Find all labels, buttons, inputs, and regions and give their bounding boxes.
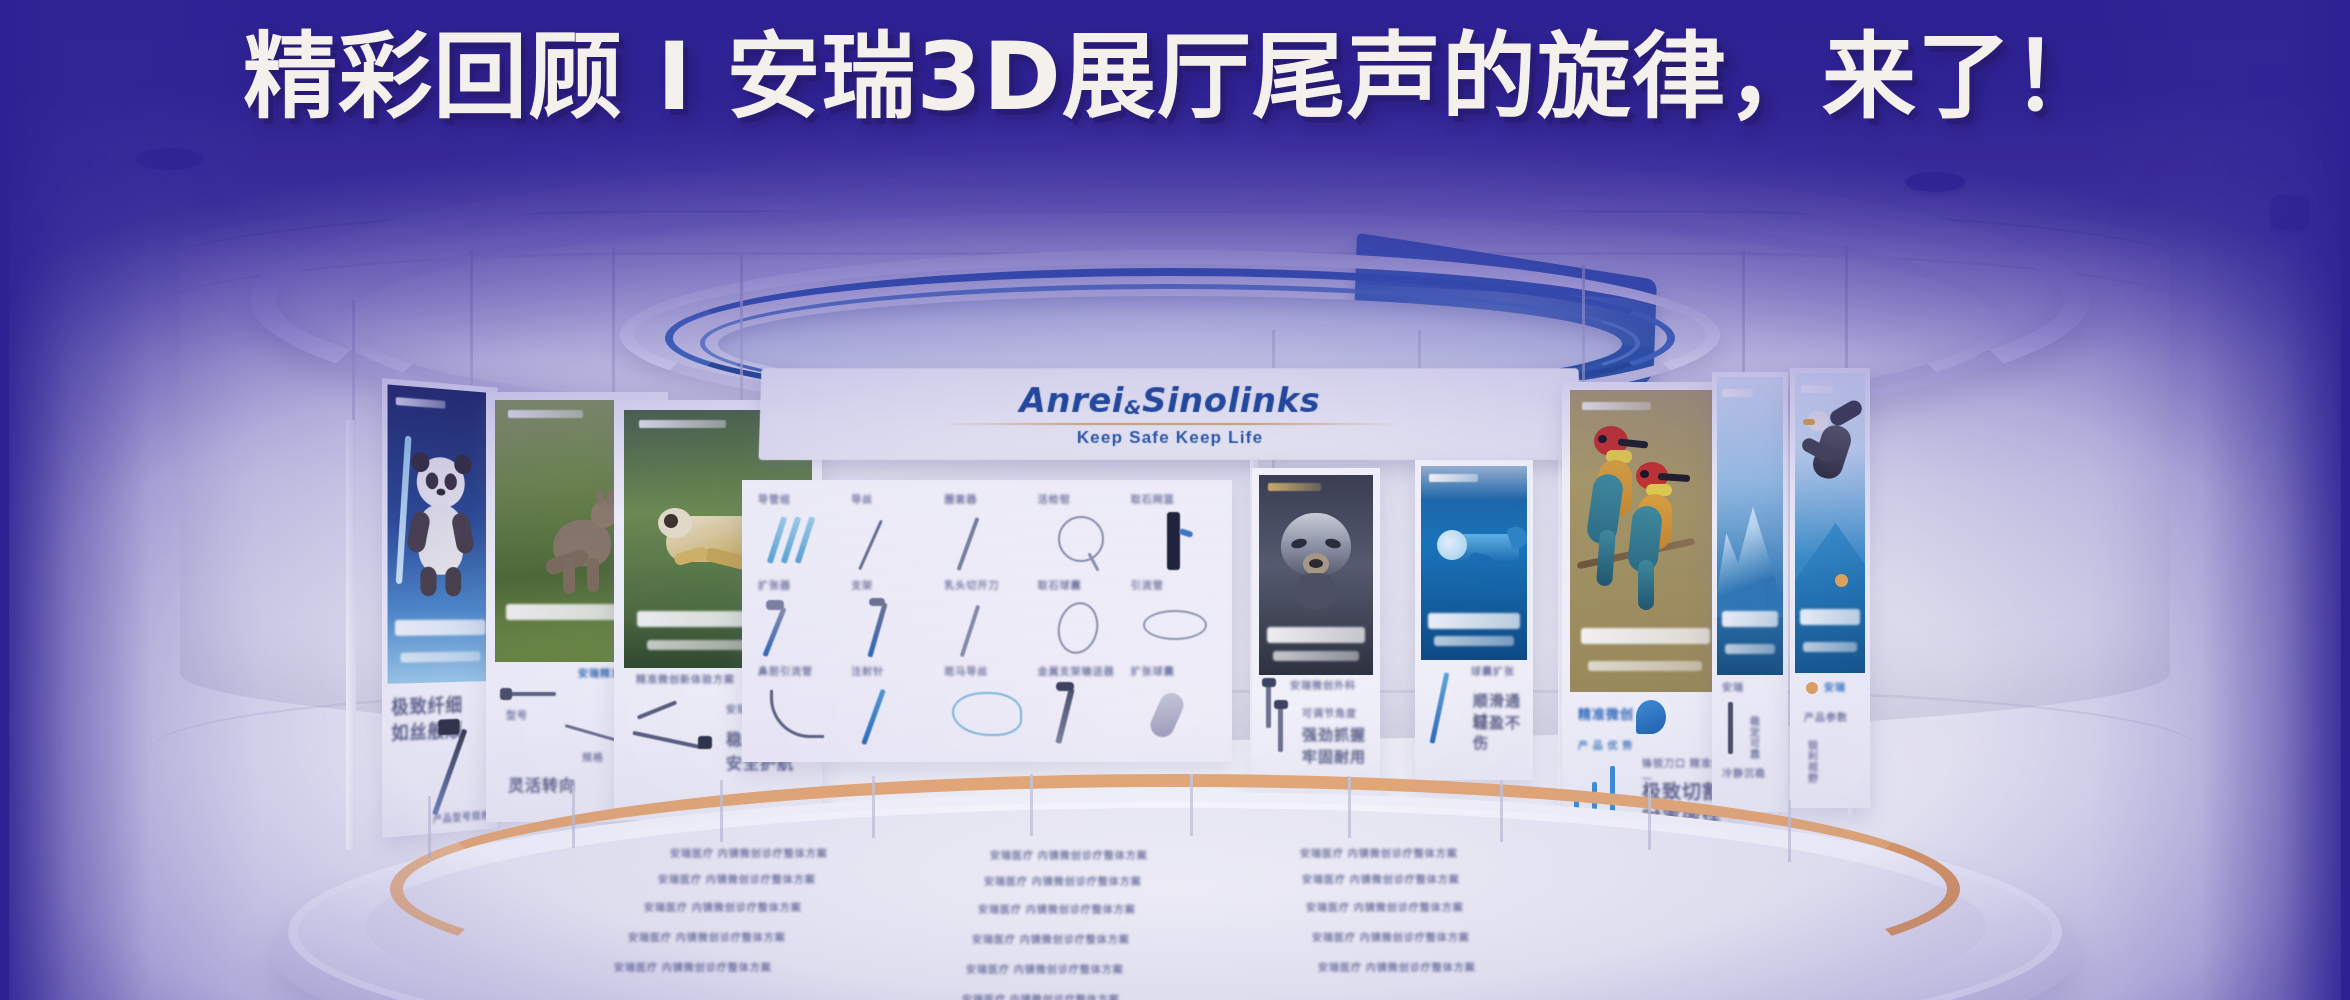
poster-subtitle-bar: [1434, 636, 1515, 646]
bee-eater-bird: [1626, 462, 1700, 612]
railing-post: [1030, 774, 1033, 836]
ceiling-spotlight: [135, 148, 203, 170]
product-label: 活检钳: [1038, 494, 1071, 508]
product-cell: 引流管: [1129, 580, 1218, 662]
railing-post: [1500, 780, 1503, 842]
railing-post: [1788, 800, 1791, 862]
poster-title-bar: [1267, 627, 1365, 643]
floor-text-line: 安瑞医疗 内镜微创诊疗整体方案: [962, 994, 1192, 1000]
panel-caption-secondary: 牢固耐用: [1302, 748, 1366, 768]
floor-text-line: 安瑞医疗 内镜微创诊疗整体方案: [966, 964, 1196, 978]
poster-subtitle-bar: [1273, 651, 1360, 661]
product-cell: 斑马导丝: [942, 666, 1031, 748]
railing-post: [720, 780, 723, 842]
product-label: 扩张器: [758, 580, 791, 594]
product-label: 取石网篮: [1131, 494, 1175, 508]
poster-title-bar: [1800, 609, 1860, 625]
panel-subcaption: 安瑞微创外科: [1290, 680, 1356, 694]
floor-text-line: 安瑞医疗 内镜微创诊疗整体方案: [614, 962, 844, 976]
product-label: 金属支架输送器: [1038, 666, 1115, 680]
product-cell: 乳头切开刀: [942, 580, 1031, 662]
icy-mountain: [1717, 497, 1783, 617]
whale-illustration: [1429, 524, 1521, 584]
instrument-silhouette: [637, 700, 677, 719]
product-label: 注射针: [851, 666, 884, 680]
product-basket: [1053, 598, 1103, 657]
poster-brandmark: [639, 420, 725, 428]
poster-brandmark: [1268, 483, 1320, 491]
poster-title-bar: [1722, 611, 1779, 627]
panel-footnote: 稳定可靠: [1746, 716, 1760, 760]
product-grid: 导管组 导丝 圈套器 活检钳: [756, 494, 1218, 748]
product-dilator: [762, 607, 786, 657]
poster-image-whale: [1421, 466, 1527, 660]
product-cell: 扩张器: [756, 580, 845, 662]
left-edge-border: [0, 0, 9, 1000]
instrument-tip: [438, 719, 459, 736]
floor-text-line: 安瑞医疗 内镜微创诊疗整体方案: [1312, 932, 1542, 946]
poster-subtitle-bar: [1588, 661, 1702, 671]
right-edge-border: [2341, 0, 2350, 1000]
panel-caption: 极致纤细: [391, 693, 463, 721]
railing-post: [428, 796, 431, 858]
railing-post: [1348, 776, 1351, 838]
brand-ampersand: &: [1124, 395, 1142, 419]
poster-image-panda: [388, 384, 493, 683]
instrument-silhouette: [1728, 702, 1733, 754]
product-dilator-hub: [766, 600, 784, 610]
panel-subcaption: 精准微创新体验方案: [636, 674, 735, 688]
poster-image-iceberg: [1717, 377, 1783, 675]
brand-logo-header: Anrei&Sinolinks Keep Safe Keep Life: [759, 368, 1582, 460]
product-guidewire: [858, 520, 883, 571]
product-nasobiliary: [770, 690, 824, 738]
floor-text-line: 安瑞医疗 内镜微创诊疗整体方案: [644, 902, 874, 916]
product-label: 取石球囊: [1038, 580, 1082, 594]
instrument-silhouette: [565, 724, 622, 743]
honey-badger-photo: [1275, 509, 1357, 619]
product-snare: [957, 517, 980, 571]
poster-brandmark: [508, 410, 583, 418]
panel-caption: 锐利视野: [1804, 740, 1818, 784]
poster-subtitle-bar: [401, 651, 481, 662]
product-cell: 支架: [849, 580, 938, 662]
eagle-photo: [1801, 397, 1859, 489]
poster-image-bee-eater: [1570, 390, 1720, 692]
product-cell: 鼻胆引流管: [756, 666, 845, 748]
accent-dot: [1806, 682, 1818, 694]
panda-illustration: [408, 455, 474, 604]
railing-post: [872, 776, 875, 838]
panel-footnote: 规格: [582, 752, 604, 766]
product-cell: 金属支架输送器: [1036, 666, 1125, 748]
product-sphincterotome: [960, 605, 980, 658]
instrument-silhouette: [1278, 704, 1283, 752]
panel-footnote: 可调节角度: [1302, 708, 1357, 722]
instrument-silhouette: [632, 731, 701, 749]
info-logo: [1636, 700, 1666, 734]
product-label: 乳头切开刀: [944, 580, 999, 594]
floor-text-line: 安瑞医疗 内镜微创诊疗整体方案: [978, 904, 1208, 918]
product-label: 圈套器: [944, 494, 977, 508]
panel-footnote: 产 品 优 势: [1578, 740, 1633, 754]
product-stent-hub: [869, 598, 885, 606]
product-stent-delivery: [1055, 688, 1074, 744]
railing-post: [1648, 788, 1651, 850]
page-title: 精彩回顾 I 安瑞3D展厅尾声的旋律，来了！: [0, 28, 2350, 128]
product-label: 鼻胆引流管: [758, 666, 813, 680]
product-cell: 注射针: [849, 666, 938, 748]
product-delivery-hub: [1056, 682, 1074, 691]
panel-footnote: 产品参数: [1804, 712, 1848, 726]
brand-tagline: Keep Safe Keep Life: [1077, 427, 1264, 447]
product-cell: 导管组: [756, 494, 845, 576]
brand-name-left: Anrei: [1019, 381, 1124, 421]
poster-panel-iceberg: 安瑞 稳定可靠 冷静沉稳: [1712, 372, 1788, 812]
product-label: 导管组: [758, 494, 791, 508]
floor-text-line: 安瑞医疗 内镜微创诊疗整体方案: [1306, 902, 1536, 916]
exhibition-platform: 安瑞医疗 内镜微创诊疗整体方案 安瑞医疗 内镜微创诊疗整体方案 安瑞医疗 内镜微…: [270, 782, 2080, 1000]
product-label: 导丝: [851, 494, 873, 508]
ceiling-spotlight: [1905, 172, 1965, 192]
brand-divider: [940, 422, 1400, 424]
product-drainage-tube: [1143, 610, 1207, 640]
poster-image-eagle: [1795, 373, 1865, 673]
brand-name-right: Sinolinks: [1142, 381, 1321, 421]
instrument-tip: [1274, 700, 1288, 709]
panel-subcaption: 精准微创: [1578, 706, 1634, 724]
brand-name: Anrei&Sinolinks: [1019, 381, 1320, 421]
product-label: 扩张球囊: [1131, 666, 1175, 680]
exhibition-banner: 极致纤细 如丝般顺 产品型号规格: [0, 0, 2350, 1000]
poster-panel-panda: 极致纤细 如丝般顺 产品型号规格: [382, 378, 497, 838]
exhibition-hall-scene: 极致纤细 如丝般顺 产品型号规格: [0, 0, 2350, 1000]
poster-panel-whale: 球囊扩张 顺滑通过 轻盈不伤: [1415, 460, 1533, 780]
poster-subtitle-bar: [1803, 642, 1856, 652]
floor-text-line: 安瑞医疗 内镜微创诊疗整体方案: [972, 934, 1202, 948]
ceiling-spotlight: [2270, 195, 2310, 231]
poster-title-bar: [395, 620, 485, 636]
product-cell: 导丝: [849, 494, 938, 576]
product-handle-port: [1178, 528, 1193, 538]
product-dilation-balloon: [1146, 689, 1187, 741]
poster-brandmark: [1582, 402, 1651, 410]
product-injection-needle: [861, 689, 886, 745]
floor-text-line: 安瑞医疗 内镜微创诊疗整体方案: [1318, 962, 1548, 976]
product-handle: [1167, 512, 1180, 570]
product-loop: [1058, 516, 1104, 562]
platform-railing: [380, 780, 1970, 900]
product-cell: 活检钳: [1036, 494, 1125, 576]
panel-subcaption: 安瑞: [1824, 682, 1846, 696]
panel-subcaption: 球囊扩张: [1471, 666, 1515, 680]
poster-brandmark: [1801, 385, 1833, 393]
product-zebra-guidewire: [952, 692, 1022, 736]
product-cell: 取石球囊: [1036, 580, 1125, 662]
panel-footnote: 型号: [506, 710, 528, 724]
product-display-board: 导管组 导丝 圈套器 活检钳: [742, 480, 1232, 762]
product-label: 斑马导丝: [944, 666, 988, 680]
floor-text-line: 安瑞医疗 内镜微创诊疗整体方案: [628, 932, 858, 946]
poster-title-bar: [1581, 628, 1710, 644]
product-cell: 圈套器: [942, 494, 1031, 576]
product-cell: 取石网篮: [1129, 494, 1218, 576]
poster-panel-eagle: 安瑞 产品参数 锐利视野: [1790, 368, 1870, 808]
instrument-tip: [1262, 678, 1276, 687]
panel-subcaption: 安瑞: [1722, 682, 1744, 696]
instrument-tip: [698, 736, 712, 749]
poster-image-badger: [1259, 475, 1373, 675]
poster-title-bar: [1428, 613, 1519, 629]
panel-caption: 强劲抓握: [1302, 726, 1366, 746]
poster-brandmark: [1722, 389, 1752, 397]
product-label: 引流管: [1131, 580, 1164, 594]
poster-panel-badger: 安瑞微创外科 可调节角度 强劲抓握 牢固耐用: [1252, 468, 1380, 796]
poster-subtitle-bar: [1725, 644, 1775, 654]
railing-post: [572, 786, 575, 848]
instrument-silhouette: [500, 688, 512, 700]
poster-brandmark: [396, 397, 445, 409]
poster-panel-bee-eater: 精准微创 产 品 优 势 锋锐刀口 精准切— 极致切割 时率效佳: [1562, 382, 1728, 832]
railing-post: [1190, 774, 1193, 836]
instrument-silhouette: [1266, 682, 1271, 728]
product-cell: 扩张球囊: [1129, 666, 1218, 748]
product-stent: [868, 602, 888, 657]
instrument-silhouette: [1430, 672, 1450, 743]
product-label: 支架: [851, 580, 873, 594]
panel-caption-secondary: 轻盈不伤: [1473, 714, 1533, 755]
